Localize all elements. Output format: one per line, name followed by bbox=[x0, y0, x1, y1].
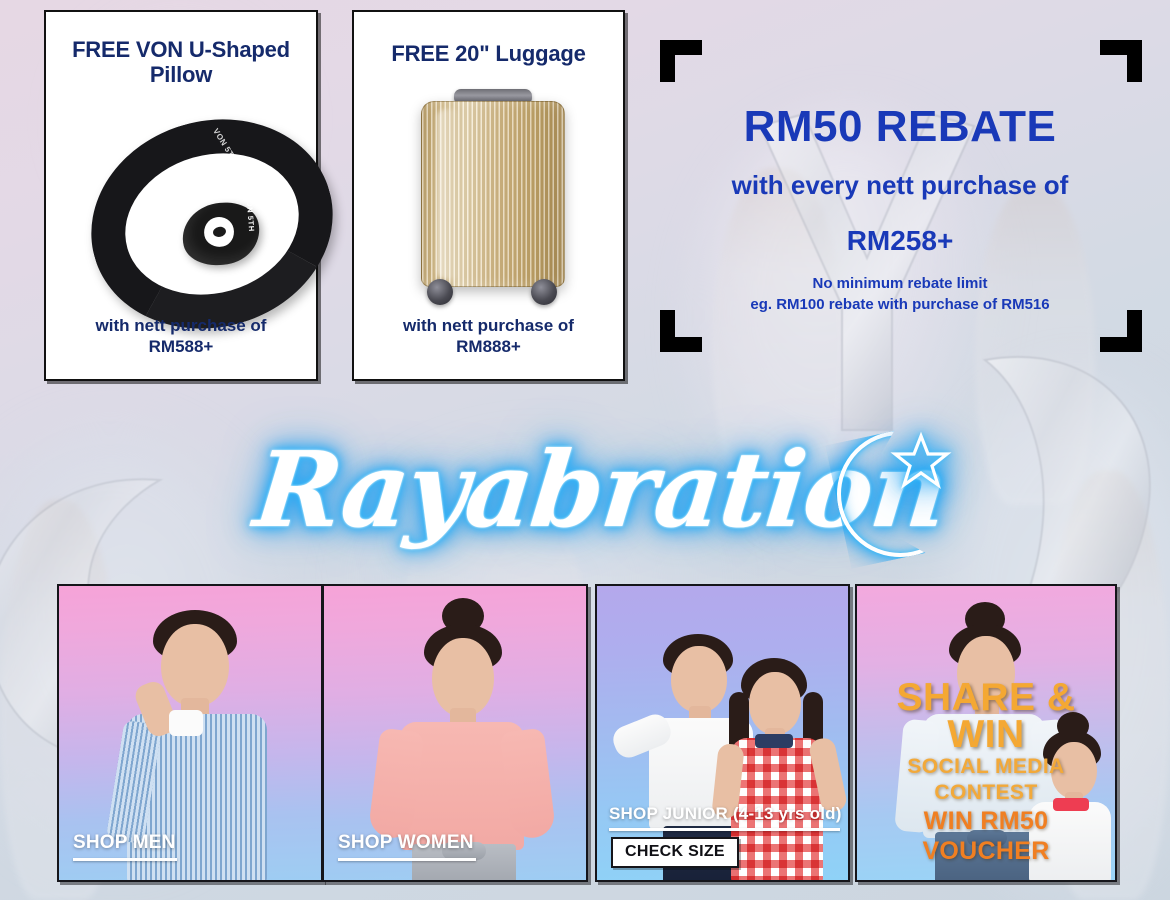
travel-pillow-icon: VON 5TH VON 5TH bbox=[86, 121, 278, 271]
promo-footer-line1: with nett purchase of bbox=[354, 316, 623, 336]
category-card-junior[interactable]: SHOP JUNIOR (4-13 yrs old) CHECK SIZE bbox=[595, 584, 850, 882]
corner-bracket-bottom-left-icon bbox=[660, 310, 702, 352]
rebate-headline: RM50 REBATE bbox=[650, 102, 1150, 152]
corner-bracket-bottom-right-icon bbox=[1100, 310, 1142, 352]
category-label-junior: SHOP JUNIOR (4-13 yrs old) bbox=[609, 804, 842, 828]
category-label-men: SHOP MEN bbox=[73, 832, 176, 858]
star-icon bbox=[893, 433, 949, 489]
category-card-share-win[interactable]: SHARE & WIN SOCIAL MEDIA CONTEST WIN RM5… bbox=[855, 584, 1117, 882]
neon-headline: Rayabration bbox=[245, 415, 945, 575]
promo-footer-line1: with nett purchase of bbox=[46, 316, 316, 336]
check-size-button[interactable]: CHECK SIZE bbox=[611, 837, 739, 868]
promo-banner: FREE VON U-Shaped Pillow VON 5TH VON 5TH… bbox=[0, 0, 1170, 900]
corner-bracket-top-right-icon bbox=[1100, 40, 1142, 82]
share-win-headline: SHARE & WIN bbox=[857, 679, 1115, 754]
promo-card-pillow[interactable]: FREE VON U-Shaped Pillow VON 5TH VON 5TH… bbox=[44, 10, 318, 381]
category-card-men[interactable]: SHOP MEN bbox=[57, 584, 323, 882]
category-card-women[interactable]: SHOP WOMEN bbox=[322, 584, 588, 882]
promo-footer-line2: RM588+ bbox=[46, 337, 316, 357]
promo-footer-line2: RM888+ bbox=[354, 337, 623, 357]
rebate-subline: with every nett purchase of bbox=[650, 170, 1150, 201]
promo-footer-luggage: with nett purchase of RM888+ bbox=[354, 316, 623, 357]
promo-title-luggage: FREE 20" Luggage bbox=[383, 42, 593, 67]
rebate-note-line2: eg. RM100 rebate with purchase of RM516 bbox=[650, 294, 1150, 315]
promo-footer-pillow: with nett purchase of RM588+ bbox=[46, 316, 316, 357]
category-label-women: SHOP WOMEN bbox=[338, 832, 474, 858]
promo-card-luggage[interactable]: FREE 20" Luggage with nett purchase of R… bbox=[352, 10, 625, 381]
suitcase-icon bbox=[421, 89, 565, 305]
promo-title-pillow: FREE VON U-Shaped Pillow bbox=[46, 38, 316, 87]
rebate-block: RM50 REBATE with every nett purchase of … bbox=[650, 30, 1150, 360]
rebate-amount: RM258+ bbox=[650, 225, 1150, 257]
neon-text-rayabration: Rayabration bbox=[237, 415, 884, 575]
rebate-note: No minimum rebate limit eg. RM100 rebate… bbox=[650, 273, 1150, 316]
rebate-note-line1: No minimum rebate limit bbox=[650, 273, 1150, 294]
share-win-prize: WIN RM50 VOUCHER bbox=[857, 806, 1115, 866]
corner-bracket-top-left-icon bbox=[660, 40, 702, 82]
share-win-text-block: SHARE & WIN SOCIAL MEDIA CONTEST WIN RM5… bbox=[857, 679, 1115, 866]
share-win-subline: SOCIAL MEDIA CONTEST bbox=[857, 754, 1115, 807]
